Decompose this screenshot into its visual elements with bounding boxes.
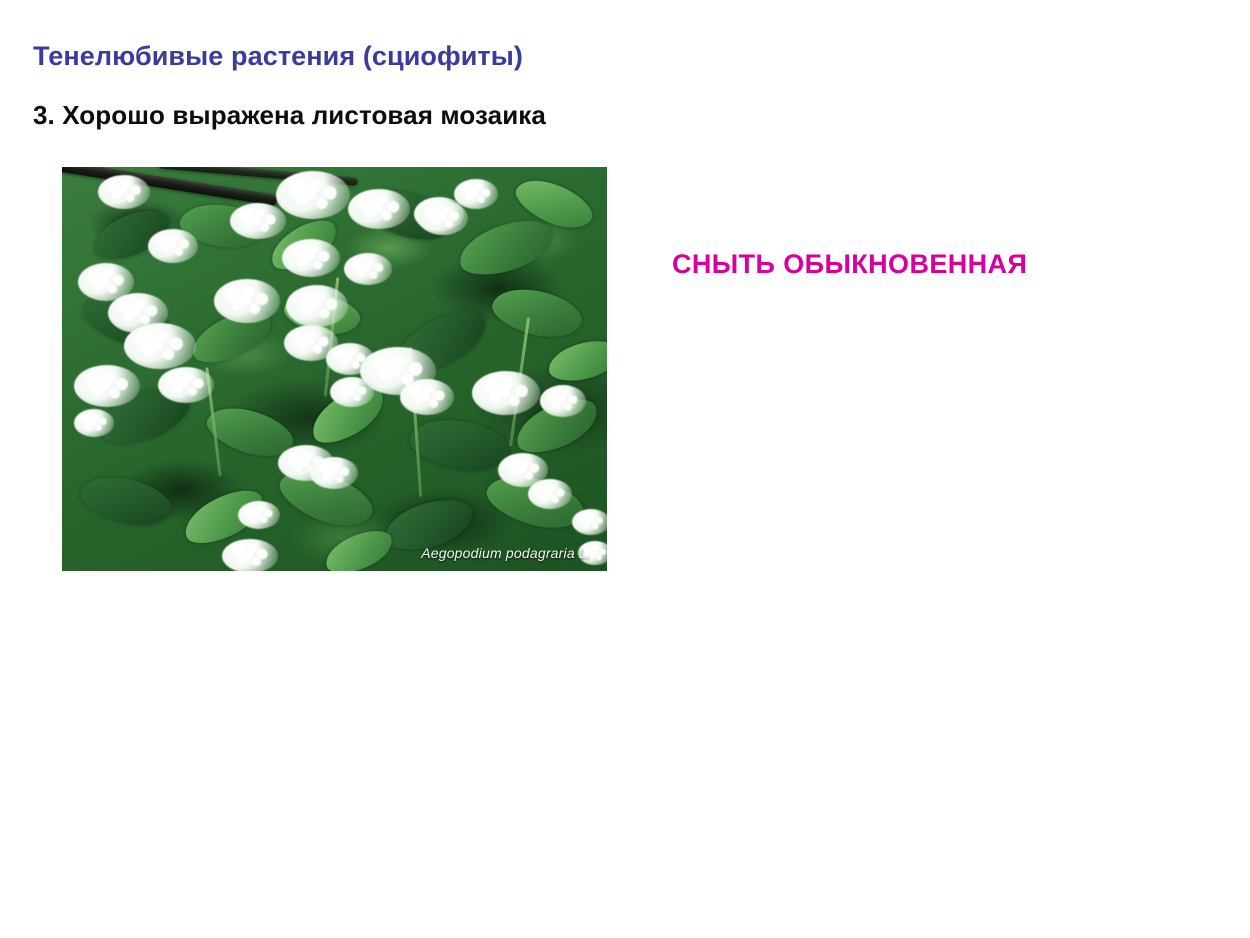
flower-umbel: [286, 285, 348, 327]
flower-umbel: [276, 171, 350, 219]
flower-umbel: [454, 179, 498, 209]
page-title: Тенелюбивые растения (сциофиты): [33, 42, 523, 72]
flower-umbel: [540, 385, 586, 417]
flower-umbel: [98, 175, 150, 209]
species-name-label: СНЫТЬ ОБЫКНОВЕННАЯ: [672, 250, 1027, 280]
flower-umbel: [214, 279, 280, 323]
flower-umbel: [230, 203, 286, 239]
flower-umbel: [330, 377, 374, 407]
flower-umbel: [344, 253, 392, 285]
flower-umbel: [348, 189, 410, 229]
plant-photo: Aegopodium podagraria L.: [62, 167, 607, 571]
flower-umbel: [282, 239, 340, 277]
slide-subtitle: 3. Хорошо выражена листовая мозаика: [33, 101, 546, 130]
flower-umbel: [124, 323, 196, 369]
flower-umbel: [222, 539, 278, 571]
flower-umbel: [572, 509, 607, 535]
photo-caption: Aegopodium podagraria L.: [421, 545, 591, 561]
flower-umbel: [472, 371, 540, 415]
flower-umbel: [148, 229, 198, 263]
flower-umbel: [238, 501, 280, 529]
flower-umbel: [158, 367, 214, 403]
flower-umbel: [74, 365, 140, 407]
flower-umbel: [528, 479, 572, 509]
presentation-slide: Тенелюбивые растения (сциофиты) 3. Хорош…: [0, 0, 1250, 938]
flower-umbel: [418, 201, 468, 235]
flower-umbel: [74, 409, 114, 437]
flower-umbel: [400, 379, 454, 415]
flower-umbel: [310, 457, 358, 489]
